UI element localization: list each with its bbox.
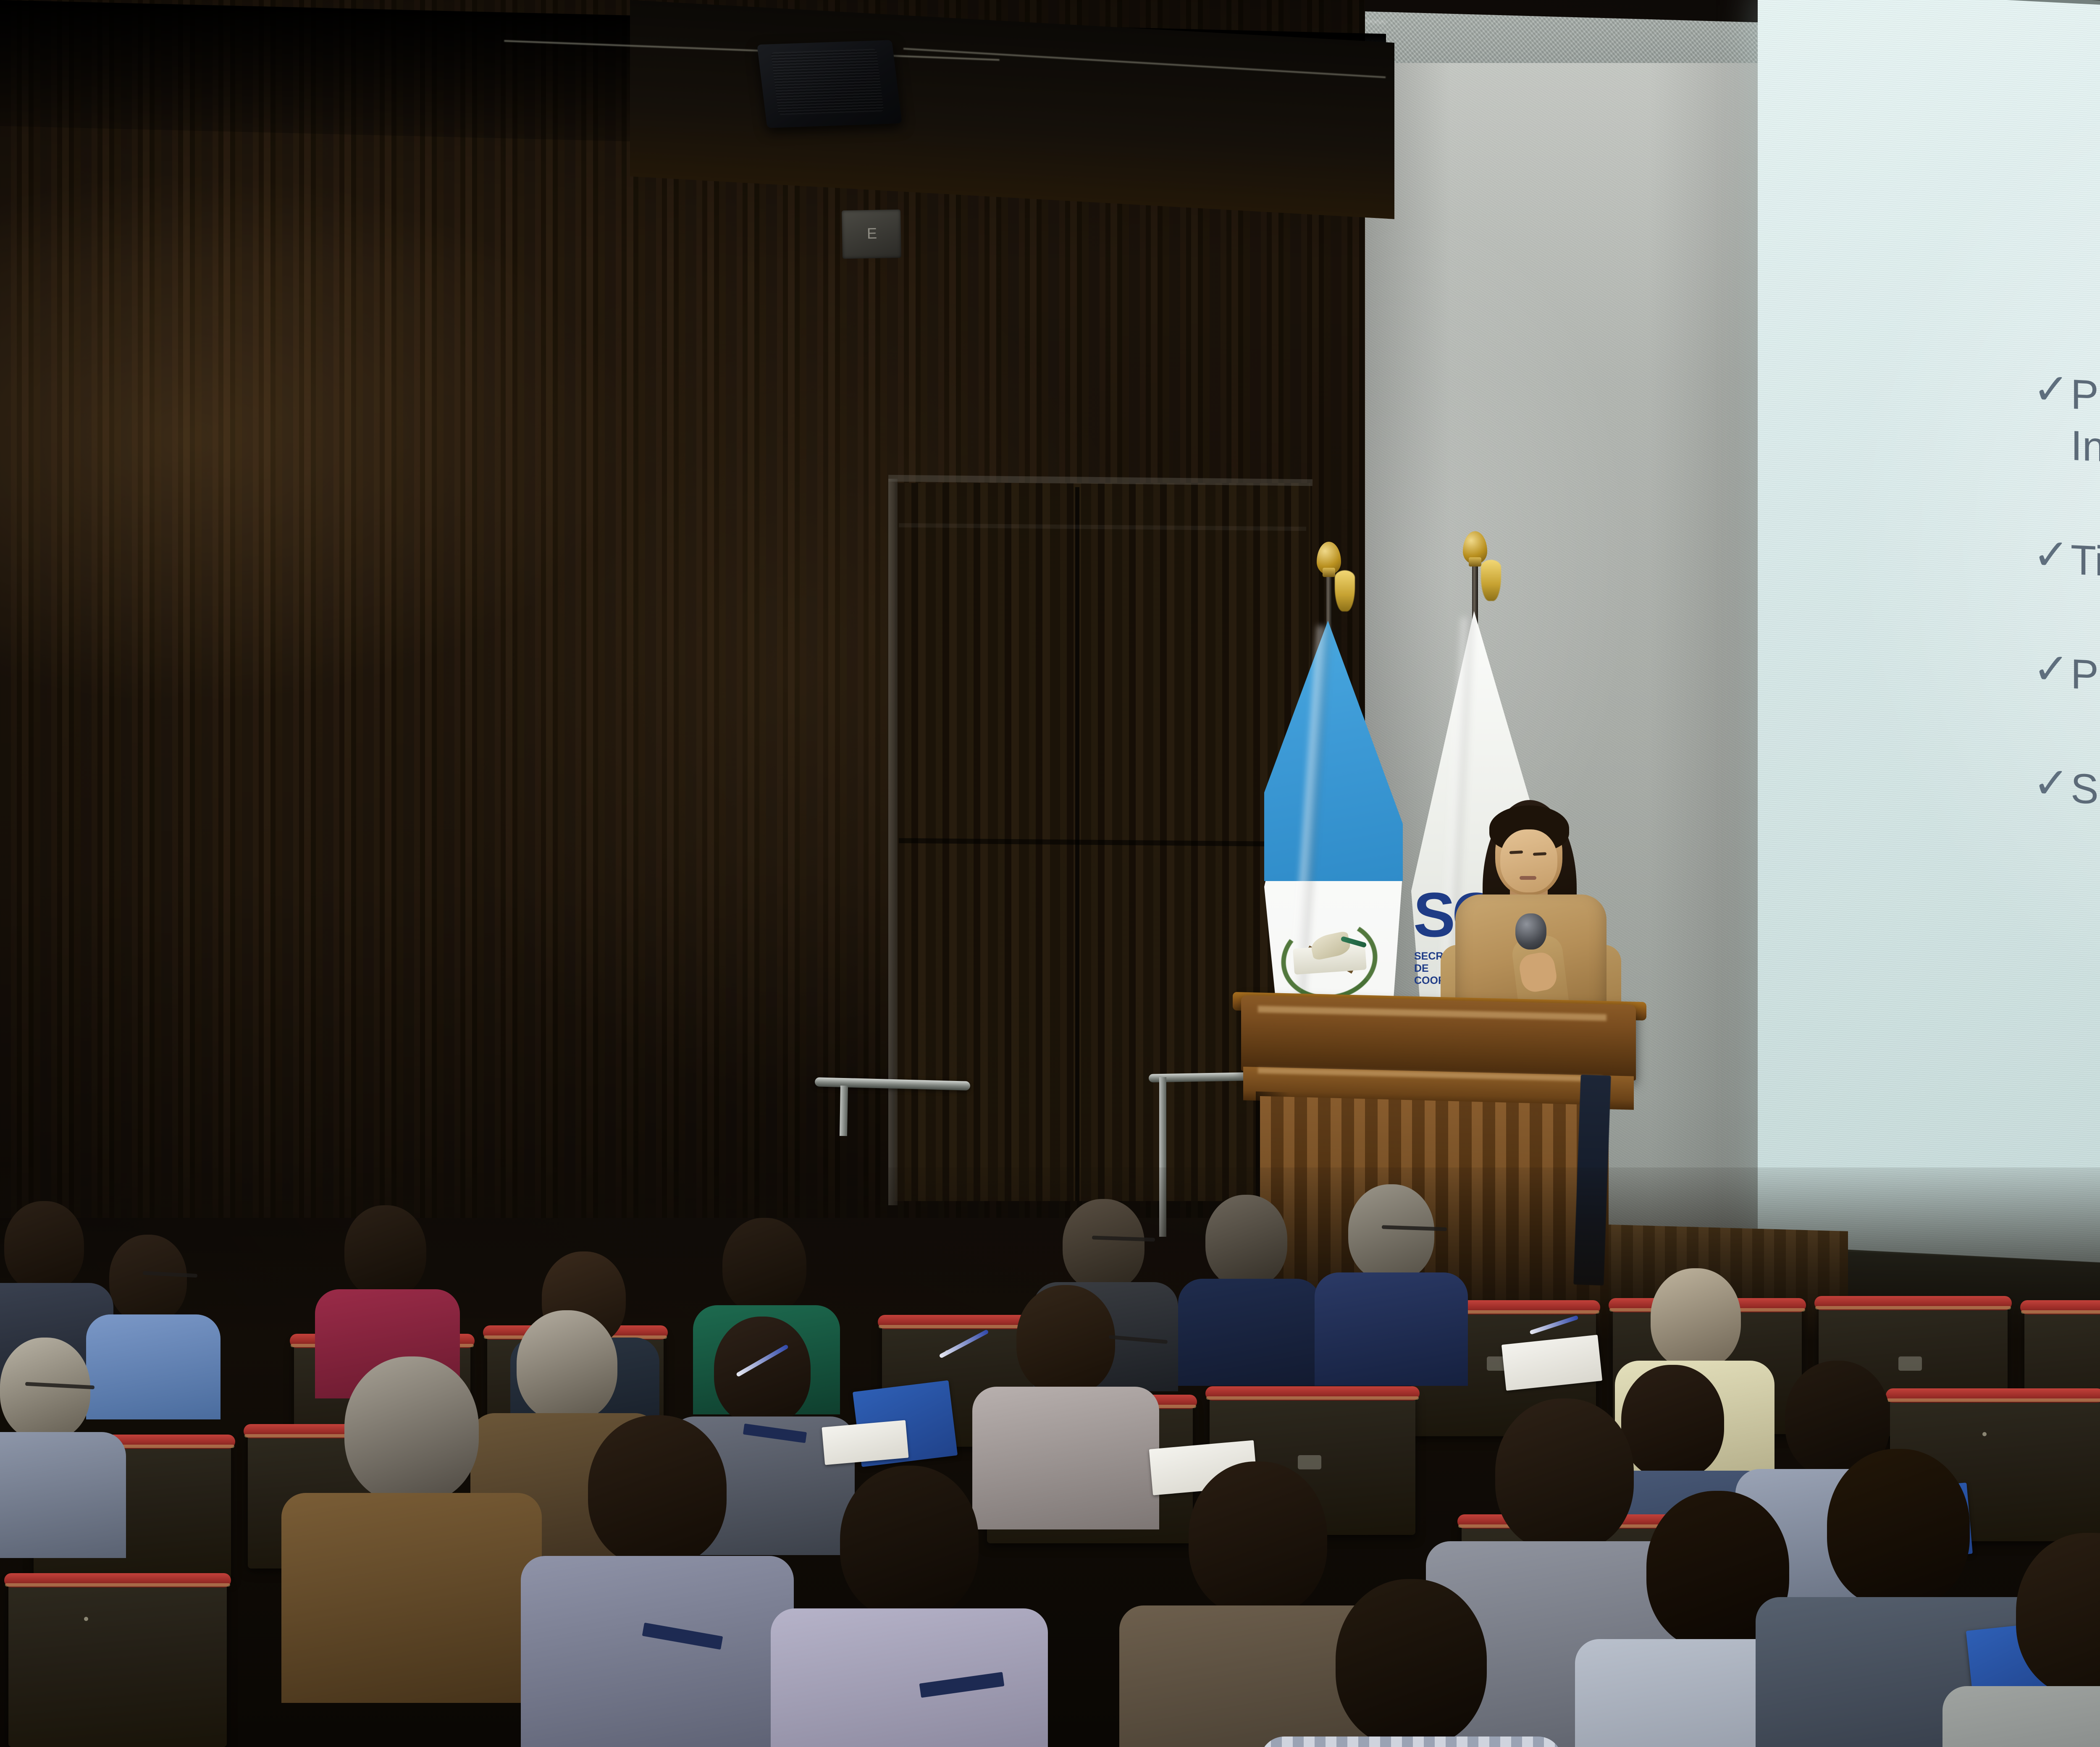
- slide-bullet-text: Tipos de informació: [2071, 534, 2100, 604]
- slide-bullet-list: ✓ Principios de la L Información Pública…: [2033, 367, 2100, 909]
- table-row[interactable]: [8, 1579, 227, 1747]
- speaker-face: [1500, 829, 1557, 892]
- door-frame: [888, 479, 898, 1205]
- slide-bullet-item: ✓ Sanciones: [2033, 761, 2100, 846]
- slide-bullet-text: Principios de la L Información Pública: [2071, 369, 2100, 490]
- flagpole-tassel: [1481, 560, 1501, 601]
- checkmark-icon: ✓: [2033, 646, 2071, 692]
- loudspeaker-grill-icon: [771, 49, 884, 115]
- notepad: [822, 1420, 908, 1465]
- slide-bullet-item: ✓ Procedimiento: [2033, 646, 2100, 732]
- slide-bullet-item: ✓ Tipos de informació: [2033, 532, 2100, 617]
- slide-bullet-text: Sanciones: [2071, 763, 2100, 824]
- flagpole-tassel: [1335, 570, 1355, 611]
- checkmark-icon: ✓: [2033, 532, 2071, 578]
- speaker-mouth: [1520, 876, 1536, 880]
- handrail-post: [840, 1086, 848, 1136]
- checkmark-icon: ✓: [2033, 367, 2071, 412]
- checkmark-icon: ✓: [2033, 761, 2071, 806]
- slide-bullet-item: ✓ Principios de la L Información Pública: [2033, 367, 2100, 503]
- slide-bullet-text: Procedimiento: [2071, 648, 2100, 713]
- slide-bullet-line2: Información Pública: [2071, 420, 2100, 490]
- wall-plate-label: E: [849, 224, 896, 243]
- auditorium-scene: E Temáti ✓ Principios de la L Informació…: [0, 0, 2100, 1747]
- microphone-icon: [1515, 913, 1546, 950]
